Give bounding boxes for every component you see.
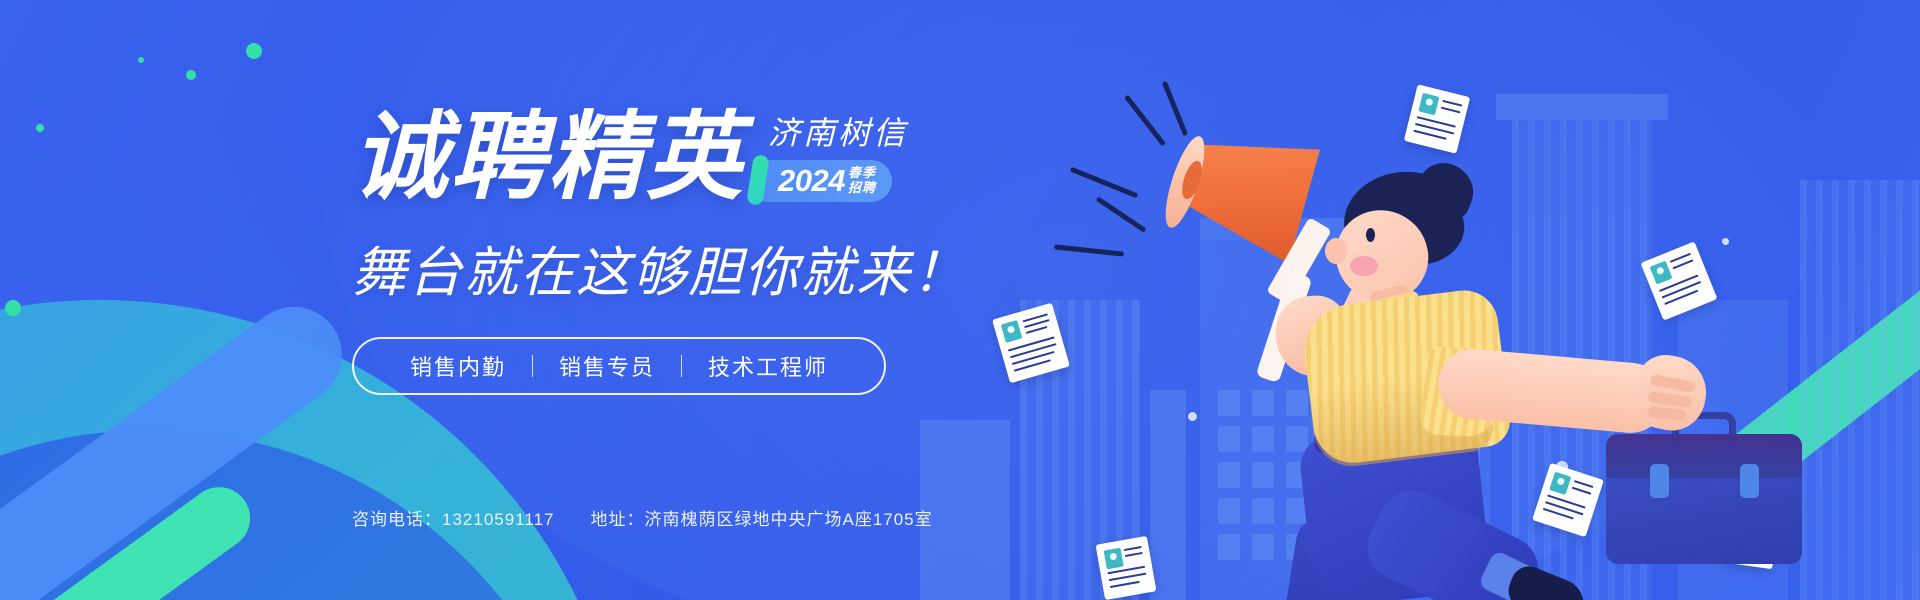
person-ear — [1325, 238, 1347, 264]
headline-row: 诚聘精英 济南树信 2024 春季 招聘 — [352, 110, 1112, 206]
banner-text-block: 诚聘精英 济南树信 2024 春季 招聘 舞台就在这够胆你就来！ 销售内勤 销售… — [352, 110, 1112, 395]
building — [920, 420, 1010, 600]
brand-badge-group: 济南树信 2024 春季 招聘 — [758, 116, 908, 206]
contact-phone: 咨询电话：13210591117 — [352, 505, 554, 530]
job-position-3[interactable]: 技术工程师 — [682, 350, 854, 382]
job-positions-capsule: 销售内勤 销售专员 技术工程师 — [352, 337, 886, 395]
badge-season-line2: 招聘 — [848, 181, 876, 195]
recruitment-banner: 诚聘精英 济南树信 2024 春季 招聘 舞台就在这够胆你就来！ 销售内勤 销售… — [0, 0, 1920, 600]
job-position-1[interactable]: 销售内勤 — [384, 350, 532, 382]
decorative-dot — [36, 124, 44, 132]
sound-line — [1162, 81, 1188, 137]
person-illustration — [1050, 60, 1610, 600]
badge-season: 春季 招聘 — [848, 166, 876, 194]
page-title: 诚聘精英 — [352, 110, 744, 206]
briefcase-lid — [1606, 434, 1802, 478]
badge-accent-stroke — [746, 154, 770, 206]
decorative-dot — [5, 300, 21, 316]
briefcase-clasp — [1740, 464, 1759, 498]
person-eye — [1366, 228, 1375, 242]
page-subtitle: 舞台就在这够胆你就来！ — [352, 228, 1112, 307]
decorative-dot — [246, 43, 262, 59]
building — [1800, 180, 1920, 600]
contact-address: 地址：济南槐荫区绿地中央广场A座1705室 — [590, 505, 932, 530]
badge-year: 2024 — [778, 165, 845, 196]
decorative-dot — [138, 57, 144, 63]
person-cheek — [1350, 256, 1378, 276]
recruitment-badge: 2024 春季 招聘 — [758, 160, 892, 202]
company-name: 济南树信 — [768, 116, 908, 151]
contact-info: 咨询电话：13210591117 地址：济南槐荫区绿地中央广场A座1705室 — [352, 505, 933, 530]
sound-line — [1124, 95, 1166, 147]
briefcase-clasp — [1650, 464, 1669, 498]
decorative-dot — [186, 70, 196, 80]
job-position-2[interactable]: 销售专员 — [533, 350, 681, 382]
badge-season-line1: 春季 — [848, 166, 876, 180]
